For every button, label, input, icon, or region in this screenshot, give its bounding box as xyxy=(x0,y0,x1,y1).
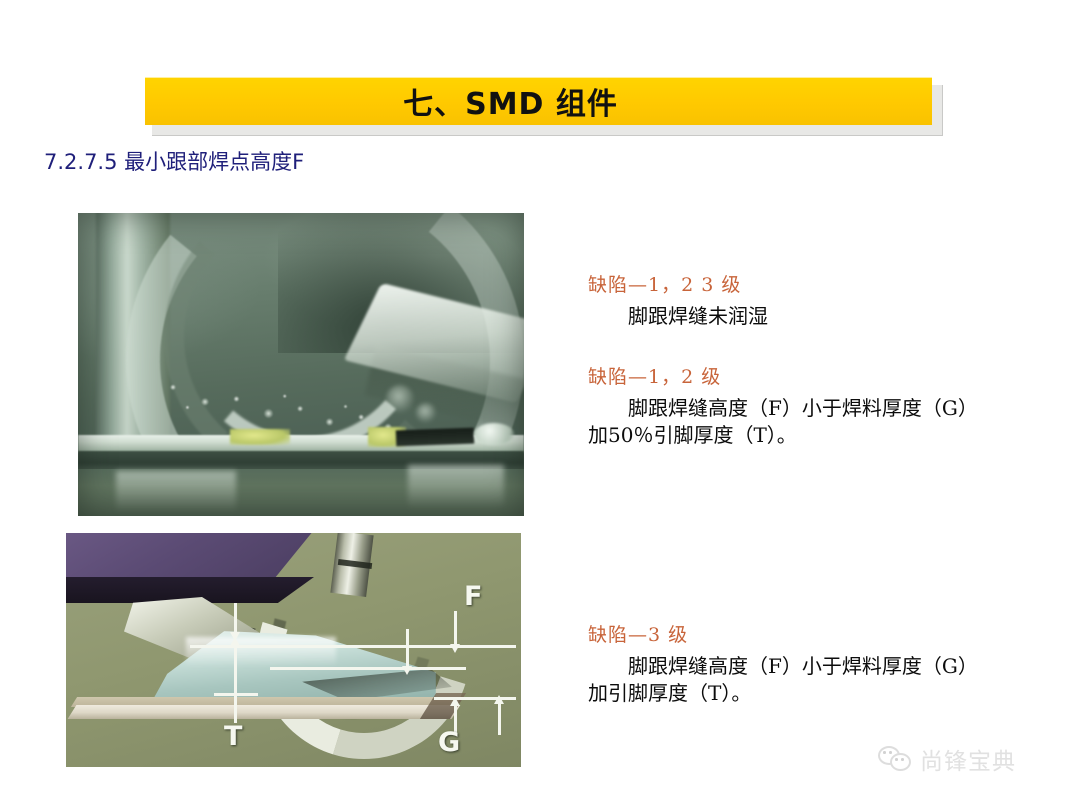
dim-arrow-f-inner xyxy=(406,629,409,667)
dim-line-t-top xyxy=(190,645,388,648)
section-subtitle: 7.2.7.5 最小跟部焊点高度F xyxy=(44,146,304,176)
dim-line-f-lower xyxy=(270,667,466,670)
solder-joint-photo xyxy=(78,213,524,516)
defect-block-2: 缺陷—1，2 级 脚跟焊缝高度（F）小于焊料厚度（G）加50％引脚厚度（T）。 xyxy=(588,362,992,449)
watermark-text: 尚锋宝典 xyxy=(920,742,1016,776)
dim-arrow-t-up xyxy=(234,645,237,693)
dim-tick-t xyxy=(234,693,237,723)
dim-arrow-t-down xyxy=(234,603,237,633)
defect-body: 脚跟焊缝高度（F）小于焊料厚度（G）加引脚厚度（T）。 xyxy=(588,653,992,707)
page-title: 七、SMD 组件 xyxy=(403,79,618,123)
defect-body: 脚跟焊缝未润湿 xyxy=(588,303,992,330)
pcb-laminate xyxy=(68,705,461,719)
dim-arrow-f-outer xyxy=(454,611,457,645)
lead-dimension-diagram: F T G xyxy=(66,533,521,767)
dim-label-f: F xyxy=(464,583,482,610)
defect-block-1: 缺陷—1，2 3 级 脚跟焊缝未润湿 xyxy=(588,270,992,330)
defect-body: 脚跟焊缝高度（F）小于焊料厚度（G）加50％引脚厚度（T）。 xyxy=(588,395,992,449)
dim-label-g: G xyxy=(438,729,460,756)
dim-label-t: T xyxy=(224,723,242,750)
wechat-icon xyxy=(878,746,912,772)
watermark: 尚锋宝典 xyxy=(878,742,1016,776)
fillet-highlight xyxy=(186,637,336,667)
slide-page: 七、SMD 组件 7.2.7.5 最小跟部焊点高度F xyxy=(0,0,1080,810)
defect-heading: 缺陷—3 级 xyxy=(588,620,992,647)
defect-heading: 缺陷—1，2 级 xyxy=(588,362,992,389)
photo-vignette xyxy=(78,213,524,516)
title-banner: 七、SMD 组件 xyxy=(145,77,935,132)
title-banner-fill: 七、SMD 组件 xyxy=(145,77,932,125)
defect-heading: 缺陷—1，2 3 级 xyxy=(588,270,992,297)
defect-block-3: 缺陷—3 级 脚跟焊缝高度（F）小于焊料厚度（G）加引脚厚度（T）。 xyxy=(588,620,992,707)
dim-arrow-g-inner xyxy=(498,703,501,735)
